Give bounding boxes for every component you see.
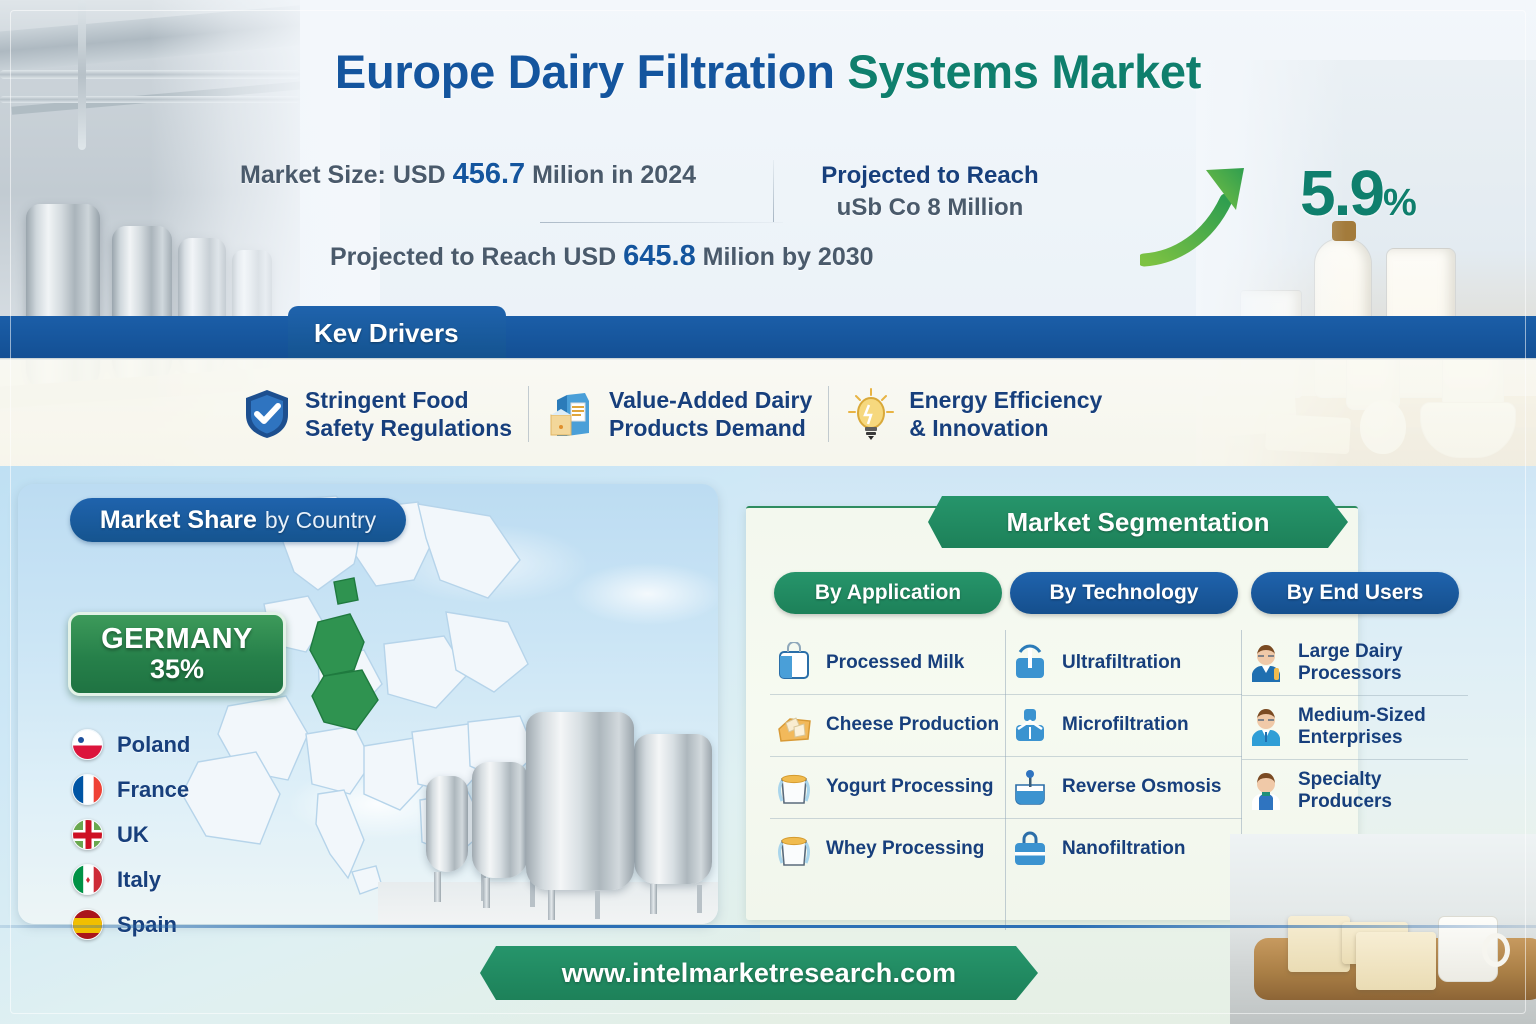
title-part-primary: Europe Dairy Filtration	[335, 45, 848, 98]
reverse-osmosis-icon	[1010, 767, 1050, 809]
projection-prefix: Projected to Reach USD	[330, 243, 623, 271]
filtration-tanks-photo	[378, 594, 718, 924]
key-drivers-bar	[0, 316, 1536, 360]
cagr-percent-sign: %	[1383, 182, 1415, 224]
driver-item[interactable]: Stringent Food Safety Regulations	[225, 386, 528, 442]
segment-label: Reverse Osmosis	[1062, 776, 1222, 798]
germany-percentage: 35%	[150, 654, 204, 685]
list-item[interactable]: Cheese Production	[770, 694, 1006, 756]
key-drivers-tab: Kev Drivers	[288, 306, 506, 360]
market-stats: Market Size: USD 456.7 Milion in 2024 Pr…	[240, 158, 1280, 288]
key-drivers-label: Kev Drivers	[314, 318, 459, 349]
driver-label: Energy Efficiency & Innovation	[909, 386, 1102, 442]
country-row-poland[interactable]: Poland	[72, 722, 322, 767]
country-list: Poland France UK Italy Spain	[72, 722, 322, 947]
website-url: www.intelmarketresearch.com	[562, 958, 957, 989]
list-item[interactable]: Large Dairy Processors	[1242, 632, 1468, 695]
market-share-title-light: by Country	[265, 507, 376, 534]
driver-line2: Products Demand	[609, 415, 806, 441]
italy-flag-icon	[72, 864, 103, 895]
projection-value: 645.8	[623, 240, 696, 272]
projection-line: Projected to Reach USD 645.8 Milion by 2…	[330, 240, 874, 273]
growth-arrow-icon	[1140, 162, 1270, 272]
lightbulb-icon	[845, 387, 897, 441]
list-item[interactable]: Yogurt Processing	[770, 756, 1006, 818]
list-item[interactable]: Whey Processing	[770, 818, 1006, 880]
poland-flag-icon	[72, 729, 103, 760]
infographic-canvas: Europe Dairy Filtration Systems Market M…	[0, 0, 1536, 1024]
uk-flag-icon	[72, 819, 103, 850]
nanofiltration-icon	[1010, 829, 1050, 871]
cagr-value: 5.9%	[1300, 156, 1415, 230]
driver-line2: Safety Regulations	[305, 415, 512, 441]
segmentation-title: Market Segmentation	[1007, 507, 1270, 538]
germany-label: GERMANY	[101, 623, 253, 656]
segmentation-title-banner: Market Segmentation	[928, 496, 1348, 548]
market-share-header: Market Share by Country	[70, 498, 406, 542]
segment-label: Ultrafiltration	[1062, 652, 1181, 674]
country-label: UK	[117, 822, 149, 848]
driver-item[interactable]: Value-Added Dairy Products Demand	[529, 386, 828, 442]
country-row-uk[interactable]: UK	[72, 812, 322, 857]
footer-divider	[0, 925, 1536, 928]
footer-banner[interactable]: www.intelmarketresearch.com	[480, 946, 1038, 1000]
segment-label: Medium-Sized Enterprises	[1298, 705, 1426, 750]
market-share-title-bold: Market Share	[100, 506, 257, 535]
list-item[interactable]: Specialty Producers	[1242, 759, 1468, 823]
segment-label: Cheese Production	[826, 714, 999, 736]
country-label: France	[117, 777, 189, 803]
market-size-suffix: Milion in 2024	[525, 161, 696, 189]
milk-carton-icon	[774, 642, 814, 684]
driver-item[interactable]: Energy Efficiency & Innovation	[829, 386, 1118, 442]
tab-by-technology[interactable]: By Technology	[1010, 572, 1238, 614]
by-application-label: By Application	[815, 581, 961, 605]
market-size-line: Market Size: USD 456.7 Milion in 2024	[240, 158, 770, 191]
market-size-block: Market Size: USD 456.7 Milion in 2024	[240, 158, 770, 191]
market-size-value: 456.7	[453, 158, 526, 190]
country-row-italy[interactable]: Italy	[72, 857, 322, 902]
segment-line2: Processors	[1298, 663, 1402, 684]
driver-line1: Value-Added Dairy	[609, 387, 812, 413]
tab-by-end-users[interactable]: By End Users	[1251, 572, 1459, 614]
country-row-france[interactable]: France	[72, 767, 322, 812]
title-part-secondary: Systems Market	[847, 45, 1201, 98]
by-end-users-label: By End Users	[1287, 581, 1424, 605]
list-item[interactable]: Processed Milk	[770, 632, 1006, 694]
projected-label-line1: Projected to Reach	[800, 162, 1060, 190]
market-size-prefix: Market Size: USD	[240, 161, 453, 189]
germany-share-badge: GERMANY 35%	[68, 612, 286, 696]
key-drivers-list: Stringent Food Safety Regulations Value-…	[225, 372, 1235, 456]
list-item[interactable]: Nanofiltration	[1006, 818, 1242, 880]
microfiltration-icon	[1010, 705, 1050, 747]
page-title: Europe Dairy Filtration Systems Market	[0, 44, 1536, 99]
projection-suffix: Milion by 2030	[696, 243, 874, 271]
driver-label: Value-Added Dairy Products Demand	[609, 386, 812, 442]
segment-label: Large Dairy Processors	[1298, 641, 1403, 686]
list-item[interactable]: Medium-Sized Enterprises	[1242, 695, 1468, 759]
projected-reach-block: Projected to Reach uSb Co 8 Million	[800, 162, 1060, 222]
segment-label: Microfiltration	[1062, 714, 1189, 736]
dairy-worker-icon	[1246, 642, 1286, 684]
segment-line1: Medium-Sized	[1298, 705, 1426, 726]
segmentation-column-application: By Application Processed Milk Cheese Pro…	[770, 572, 1006, 880]
segment-line1: Large Dairy	[1298, 641, 1403, 662]
list-item[interactable]: Reverse Osmosis	[1006, 756, 1242, 818]
projected-label-line2: uSb Co 8 Million	[800, 194, 1060, 222]
country-label: Poland	[117, 732, 190, 758]
segment-line1: Specialty	[1298, 769, 1381, 790]
tab-by-application[interactable]: By Application	[774, 572, 1002, 614]
cheese-block-icon	[774, 705, 814, 747]
cagr-number: 5.9	[1300, 157, 1383, 229]
segment-line2: Enterprises	[1298, 727, 1403, 748]
driver-line1: Energy Efficiency	[909, 387, 1102, 413]
stats-horizontal-divider	[540, 222, 783, 223]
list-item[interactable]: Ultrafiltration	[1006, 632, 1242, 694]
segmentation-column-technology: By Technology Ultrafiltration Microfiltr…	[1006, 572, 1242, 880]
cheese-board-photo	[1230, 834, 1536, 1024]
specialty-producer-icon	[1246, 770, 1286, 812]
ultrafiltration-icon	[1010, 642, 1050, 684]
country-label: Italy	[117, 867, 161, 893]
segment-label: Specialty Producers	[1298, 769, 1392, 814]
segment-label: Whey Processing	[826, 838, 984, 860]
driver-label: Stringent Food Safety Regulations	[305, 386, 512, 442]
driver-line1: Stringent Food	[305, 387, 469, 413]
shield-check-icon	[241, 387, 293, 441]
list-item[interactable]: Microfiltration	[1006, 694, 1242, 756]
stats-vertical-divider	[773, 160, 774, 222]
milk-carton-box-icon	[545, 387, 597, 441]
segment-label: Processed Milk	[826, 652, 964, 674]
segment-line2: Producers	[1298, 791, 1392, 812]
driver-line2: & Innovation	[909, 415, 1048, 441]
enterprise-manager-icon	[1246, 706, 1286, 748]
by-technology-label: By Technology	[1050, 581, 1199, 605]
yogurt-container-icon	[774, 767, 814, 809]
whey-container-icon	[774, 829, 814, 871]
segment-label: Yogurt Processing	[826, 776, 994, 798]
france-flag-icon	[72, 774, 103, 805]
segment-label: Nanofiltration	[1062, 838, 1186, 860]
